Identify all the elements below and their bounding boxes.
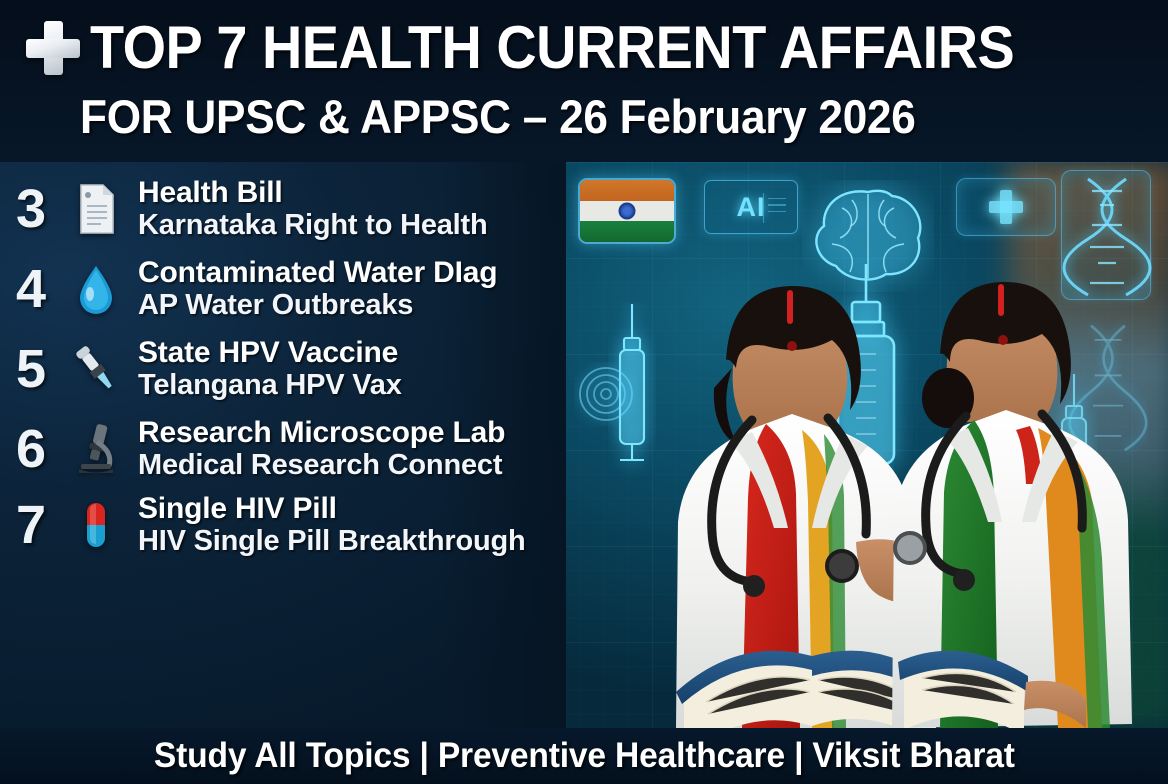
list-item-subtitle: Medical Research Connect xyxy=(138,449,620,482)
title-row: TOP 7 HEALTH CURRENT AFFAIRS xyxy=(26,18,1084,78)
water-droplet-icon xyxy=(62,257,130,321)
list-item[interactable]: 5 State HPV Vaccine Telangana HPV Vax xyxy=(0,336,620,402)
list-item-number: 7 xyxy=(0,498,62,552)
doctors-photo-subject xyxy=(556,162,1168,728)
pill-capsule-icon xyxy=(62,493,130,557)
list-item-number: 3 xyxy=(0,182,62,236)
list-item-title: Single HIV Pill xyxy=(138,492,620,525)
dropper-icon xyxy=(62,337,130,401)
list-item-title: Contaminated Water DIag xyxy=(138,256,620,289)
footer-tagline: Study All Topics | Preventive Healthcare… xyxy=(154,736,1015,776)
infographic-poster: AI xyxy=(0,0,1168,784)
list-item-title: Research Microscope Lab xyxy=(138,416,620,449)
list-item-subtitle: Telangana HPV Vax xyxy=(138,369,620,402)
list-item-title: Health Bill xyxy=(138,176,620,209)
poster-footer: Study All Topics | Preventive Healthcare… xyxy=(0,728,1168,784)
list-item-title: State HPV Vaccine xyxy=(138,336,620,369)
list-item-number: 4 xyxy=(0,262,62,316)
list-item-number: 6 xyxy=(0,422,62,476)
medical-cross-icon xyxy=(26,21,80,75)
microscope-icon xyxy=(62,417,130,481)
list-item[interactable]: 4 Contaminated Water DIag AP Water Outbr… xyxy=(0,256,620,322)
list-item[interactable]: 6 Research Microscope Lab Medical Resear… xyxy=(0,416,620,482)
page-title: TOP 7 HEALTH CURRENT AFFAIRS xyxy=(90,18,1014,78)
hero-photo: AI xyxy=(556,162,1168,728)
document-icon xyxy=(62,177,130,241)
list-item-subtitle: Karnataka Right to Health xyxy=(138,209,620,242)
poster-header: TOP 7 HEALTH CURRENT AFFAIRS FOR UPSC & … xyxy=(0,0,1168,162)
list-item-subtitle: HIV Single Pill Breakthrough xyxy=(138,525,620,558)
page-subtitle: FOR UPSC & APPSC – 26 February 2026 xyxy=(80,92,916,142)
list-item-number: 5 xyxy=(0,342,62,396)
list-item[interactable]: 7 Single HIV Pill HIV Single Pill Breakt… xyxy=(0,492,620,558)
list-item-subtitle: AP Water Outbreaks xyxy=(138,289,620,322)
list-item[interactable]: 3 Health Bill Karnataka Right to Health xyxy=(0,176,620,242)
